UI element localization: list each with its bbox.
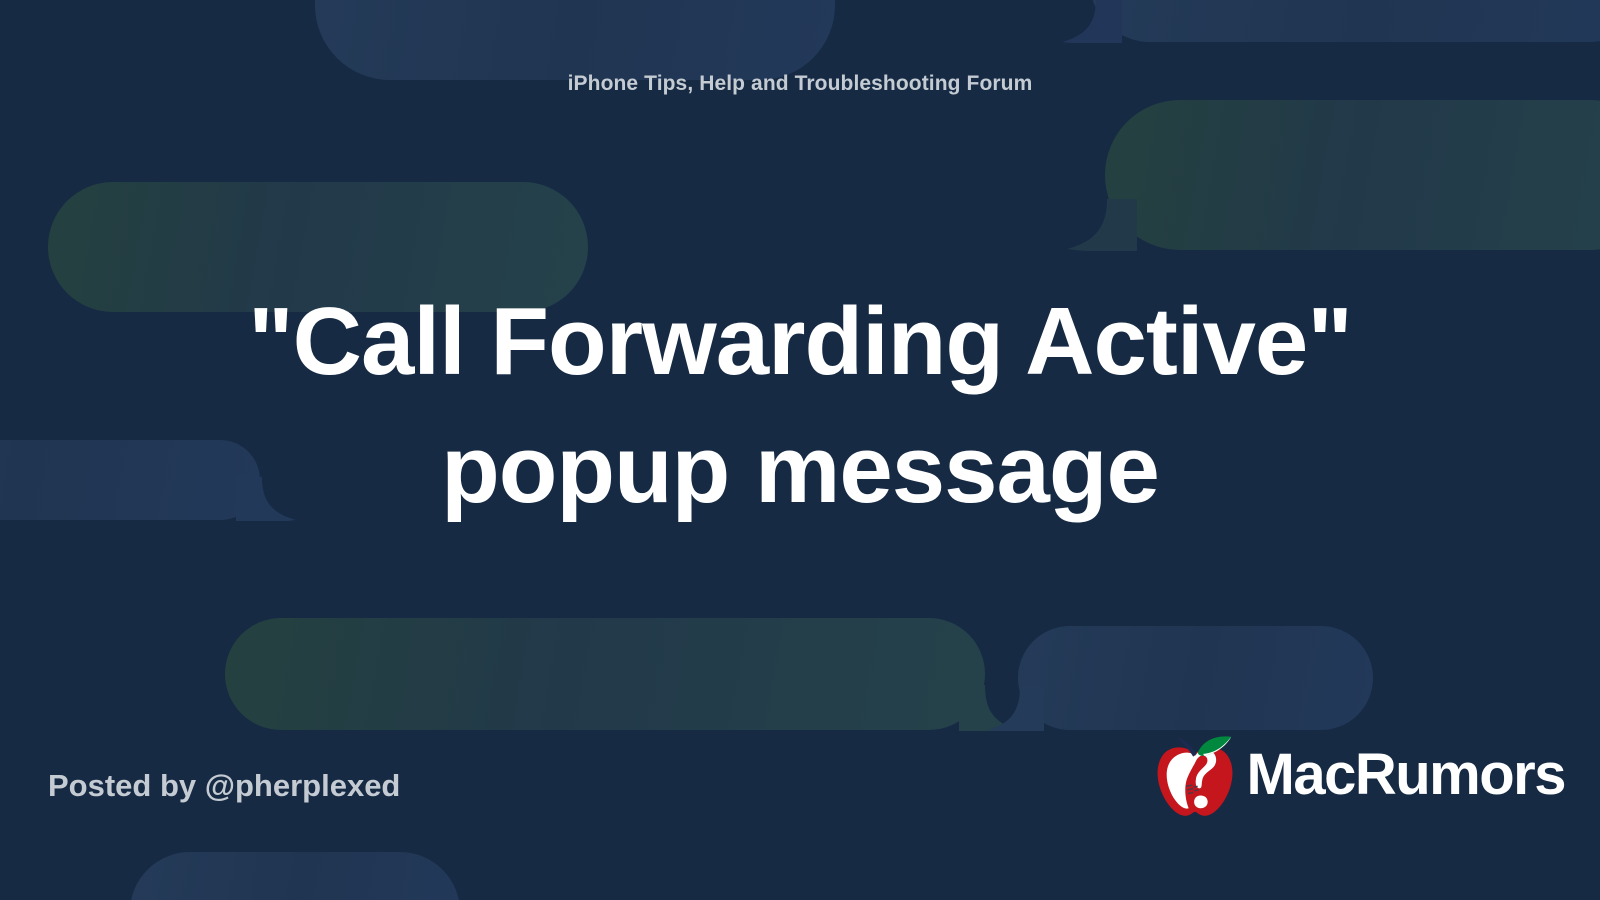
- bubble-center-teal: [225, 618, 985, 730]
- macrumors-wordmark: MacRumors: [1247, 746, 1565, 808]
- bubble-tail-icon: [959, 685, 1019, 731]
- bubble-body: [1105, 100, 1600, 250]
- macrumors-apple-icon: [1149, 734, 1241, 820]
- bubble-top-left: [315, 0, 835, 80]
- bubble-body: [225, 618, 985, 730]
- bubble-bottom-left: [130, 852, 460, 900]
- bubble-body: [130, 852, 460, 900]
- bubble-right-teal: [1105, 100, 1600, 250]
- bubble-right-lower: [1018, 626, 1373, 730]
- bubble-top-right: [1090, 0, 1600, 42]
- macrumors-logo: MacRumors: [1149, 734, 1565, 820]
- share-card: iPhone Tips, Help and Troubleshooting Fo…: [0, 0, 1600, 900]
- page-title: "Call Forwarding Active" popup message: [150, 278, 1450, 533]
- forum-category-label: iPhone Tips, Help and Troubleshooting Fo…: [0, 72, 1600, 96]
- bubble-tail-icon: [988, 687, 1044, 731]
- bubble-body: [1090, 0, 1600, 42]
- bubble-tail-icon: [1062, 0, 1122, 43]
- bubble-body: [315, 0, 835, 80]
- post-author-attribution: Posted by @pherplexed: [48, 768, 400, 804]
- bubble-body: [1018, 626, 1373, 730]
- bubble-tail-icon: [1067, 199, 1137, 251]
